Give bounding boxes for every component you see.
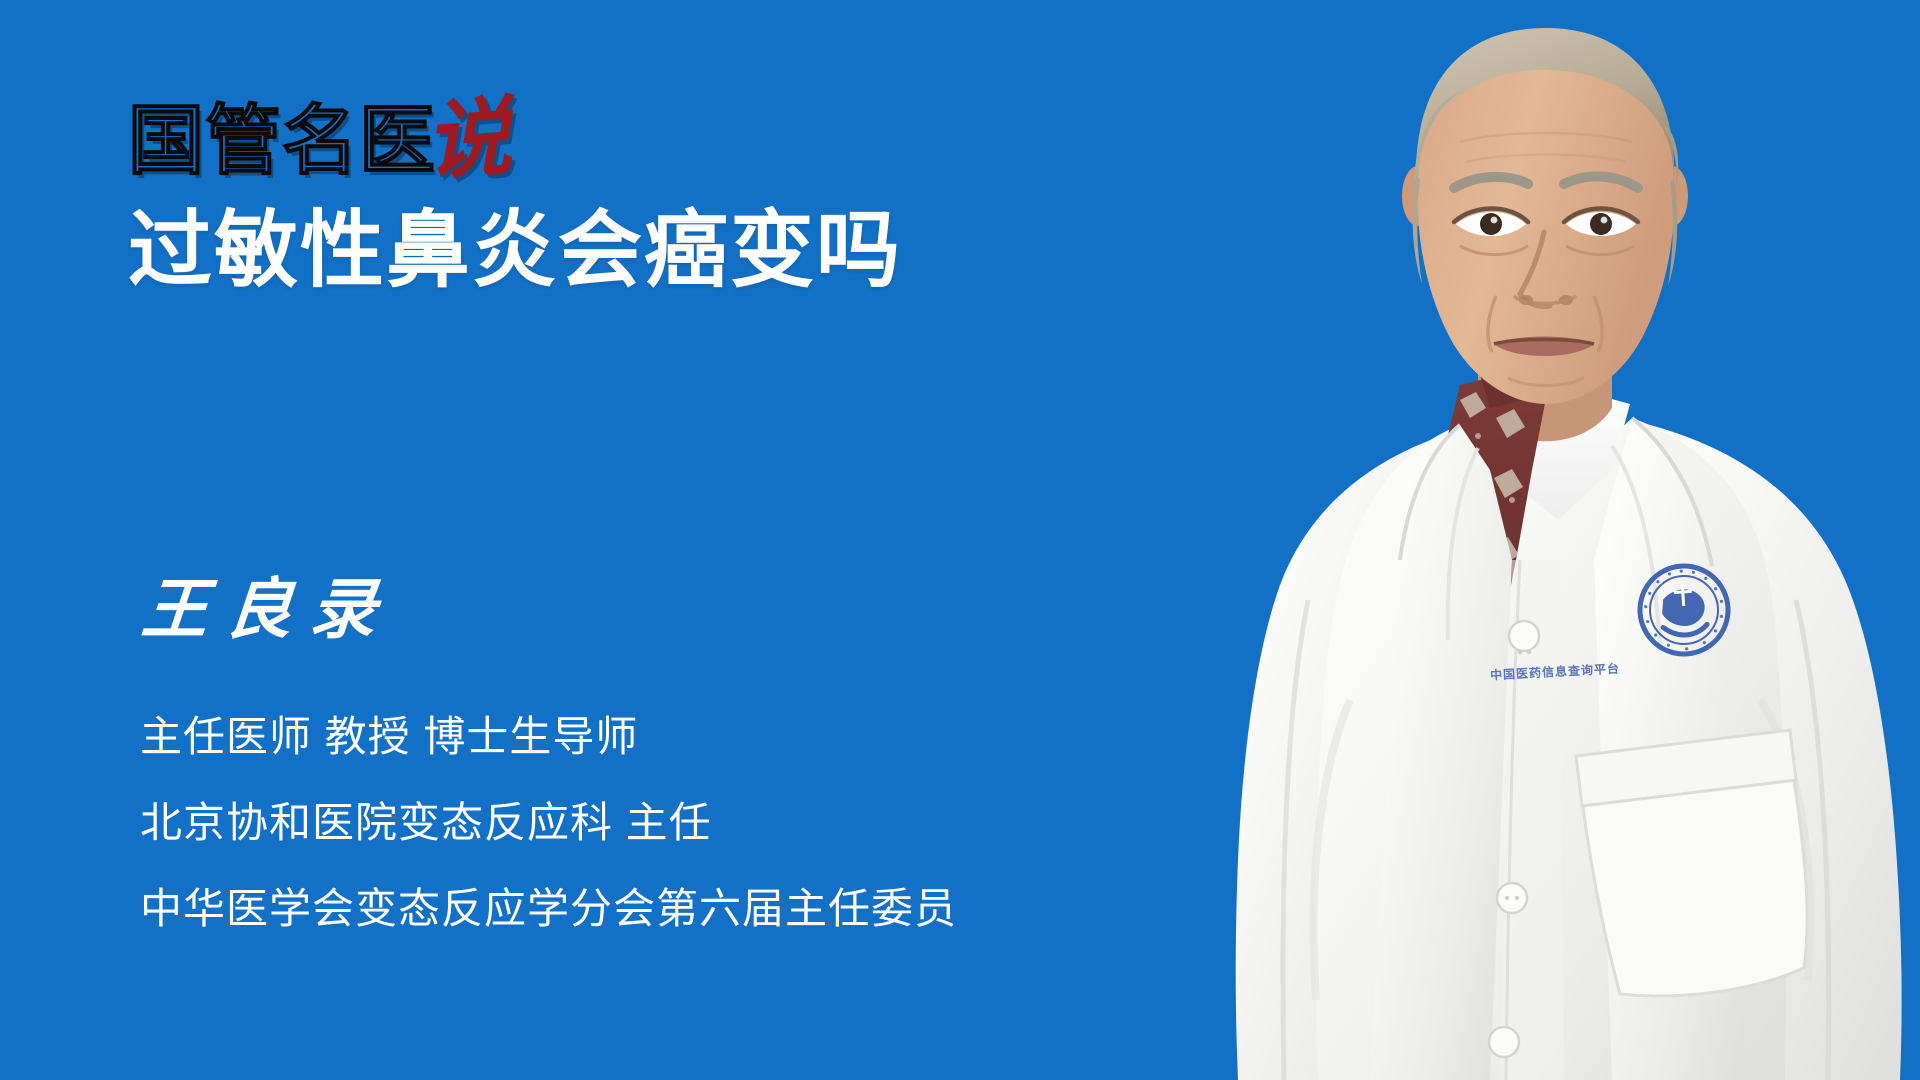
brand-logo: 国管名医说 bbox=[128, 96, 514, 180]
video-cover-slide: 国管名医说 过敏性鼻炎会癌变吗 王良录 主任医师 教授 博士生导师 北京协和医院… bbox=[0, 0, 1920, 1080]
credential-line-3: 中华医学会变态反应学分会第六届主任委员 bbox=[140, 888, 1160, 930]
page-title: 过敏性鼻炎会癌变吗 bbox=[128, 206, 902, 295]
doctor-portrait bbox=[1160, 0, 1920, 1080]
credential-line-2: 北京协和医院变态反应科 主任 bbox=[140, 802, 1160, 844]
doctor-credentials: 主任医师 教授 博士生导师 北京协和医院变态反应科 主任 中华医学会变态反应学分… bbox=[140, 716, 1160, 930]
doctor-portrait-illustration bbox=[1160, 0, 1920, 1080]
coat-chest-pocket bbox=[1576, 730, 1807, 996]
brand-logo-main-text: 国管名医 bbox=[128, 104, 438, 180]
brand-logo-accent-text: 说 bbox=[422, 94, 514, 186]
doctor-name: 王良录 bbox=[139, 578, 397, 644]
credential-line-1: 主任医师 教授 博士生导师 bbox=[140, 716, 1160, 758]
